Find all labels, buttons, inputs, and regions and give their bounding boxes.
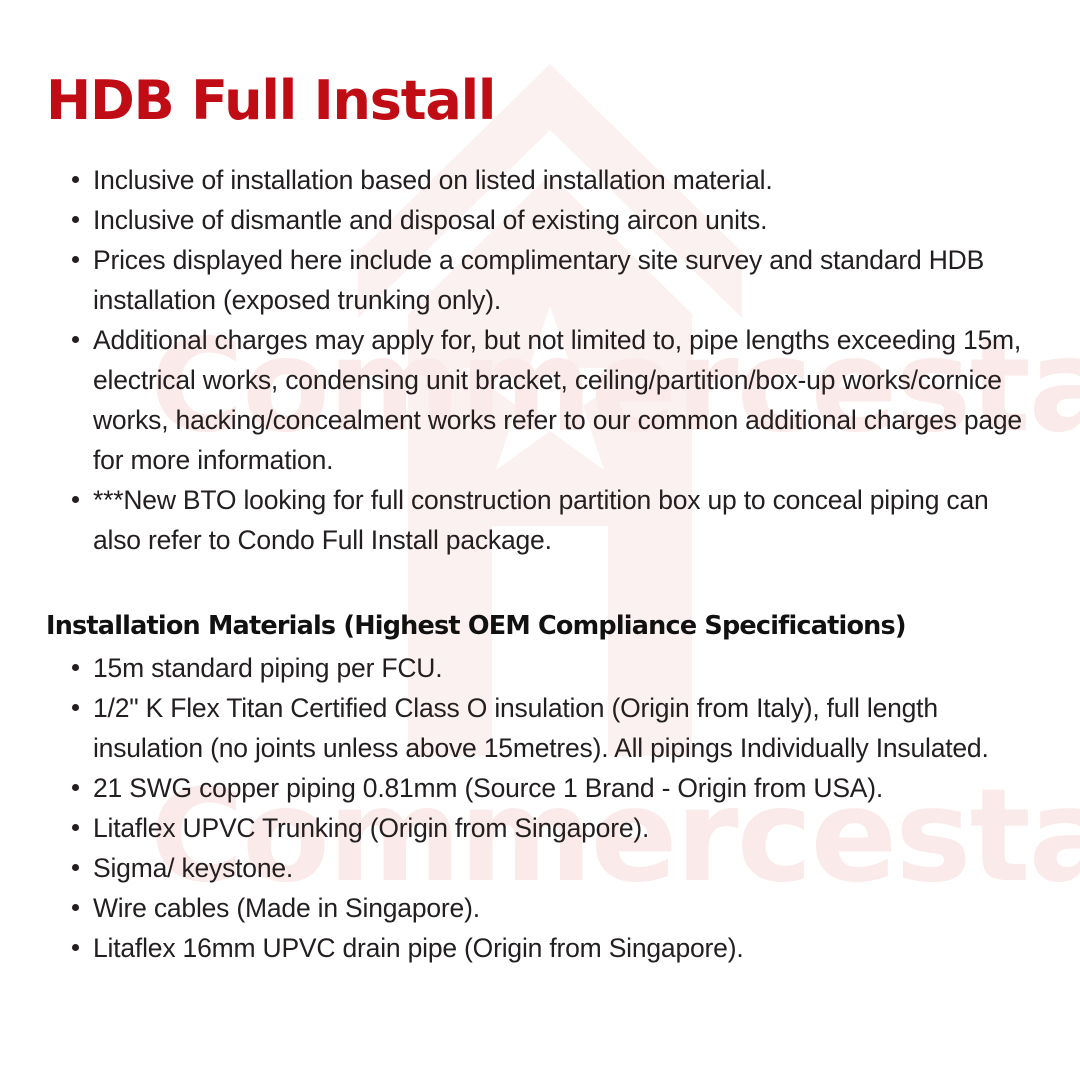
list-item: 1/2" K Flex Titan Certified Class O insu… xyxy=(46,688,1034,768)
list-item-text: Prices displayed here include a complime… xyxy=(93,245,984,315)
bullet-dot-icon xyxy=(72,784,79,791)
list-item: Litaflex 16mm UPVC drain pipe (Origin fr… xyxy=(46,928,1034,968)
bullet-dot-icon xyxy=(72,704,79,711)
list-item-text: Wire cables (Made in Singapore). xyxy=(93,893,480,923)
list-item: ***New BTO looking for full construction… xyxy=(46,480,1034,560)
bullet-dot-icon xyxy=(72,864,79,871)
list-item-text: Inclusive of dismantle and disposal of e… xyxy=(93,205,767,235)
list-item-text: Additional charges may apply for, but no… xyxy=(93,325,1022,475)
list-item-text: Litaflex UPVC Trunking (Origin from Sing… xyxy=(93,813,649,843)
bullet-dot-icon xyxy=(72,256,79,263)
list-item: Inclusive of dismantle and disposal of e… xyxy=(46,200,1034,240)
list-item: 21 SWG copper piping 0.81mm (Source 1 Br… xyxy=(46,768,1034,808)
intro-bullet-list: Inclusive of installation based on liste… xyxy=(46,160,1034,560)
list-item: Sigma/ keystone. xyxy=(46,848,1034,888)
bullet-dot-icon xyxy=(72,336,79,343)
list-item-text: 21 SWG copper piping 0.81mm (Source 1 Br… xyxy=(93,773,883,803)
hdb-full-install-page: Commercestar Commercestar HDB Full Insta… xyxy=(0,0,1080,1080)
list-item: Prices displayed here include a complime… xyxy=(46,240,1034,320)
list-item-text: Inclusive of installation based on liste… xyxy=(93,165,773,195)
list-item: Litaflex UPVC Trunking (Origin from Sing… xyxy=(46,808,1034,848)
list-item: 15m standard piping per FCU. xyxy=(46,648,1034,688)
bullet-dot-icon xyxy=(72,216,79,223)
list-item-text: 15m standard piping per FCU. xyxy=(93,653,442,683)
content-area: HDB Full Install Inclusive of installati… xyxy=(0,0,1080,968)
bullet-dot-icon xyxy=(72,824,79,831)
list-item-text: Sigma/ keystone. xyxy=(93,853,293,883)
bullet-dot-icon xyxy=(72,496,79,503)
materials-bullet-list: 15m standard piping per FCU. 1/2" K Flex… xyxy=(46,648,1034,968)
list-item-text: ***New BTO looking for full construction… xyxy=(93,485,989,555)
section-heading-installation-materials: Installation Materials (Highest OEM Comp… xyxy=(46,560,1034,646)
list-item: Wire cables (Made in Singapore). xyxy=(46,888,1034,928)
bullet-dot-icon xyxy=(72,904,79,911)
list-item-text: Litaflex 16mm UPVC drain pipe (Origin fr… xyxy=(93,933,744,963)
bullet-dot-icon xyxy=(72,944,79,951)
list-item: Inclusive of installation based on liste… xyxy=(46,160,1034,200)
page-title: HDB Full Install xyxy=(46,0,1034,128)
list-item-text: 1/2" K Flex Titan Certified Class O insu… xyxy=(93,693,989,763)
list-item: Additional charges may apply for, but no… xyxy=(46,320,1034,480)
bullet-dot-icon xyxy=(72,664,79,671)
bullet-dot-icon xyxy=(72,176,79,183)
